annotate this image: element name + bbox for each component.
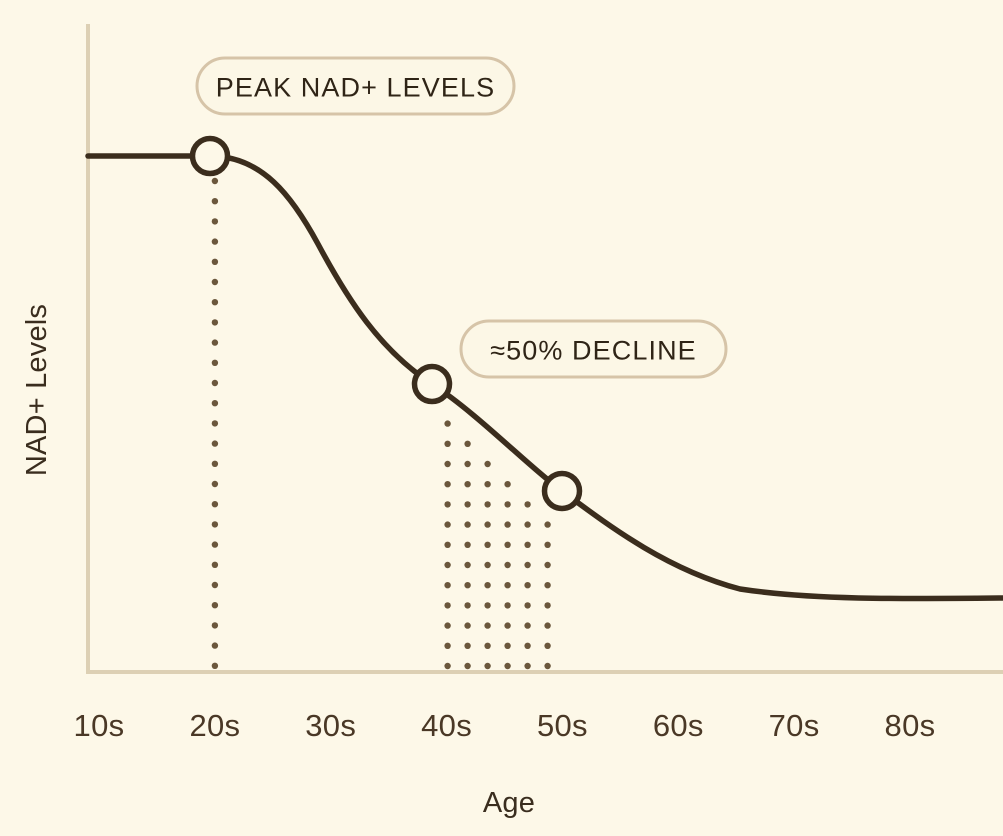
region-fill-dot xyxy=(464,622,470,628)
dropline-dot xyxy=(212,420,218,426)
region-fill-dot xyxy=(544,602,550,608)
region-fill-dot xyxy=(444,663,450,669)
region-fill-dot xyxy=(484,622,490,628)
region-fill-dot xyxy=(464,542,470,548)
region-fill-dot xyxy=(504,481,510,487)
region-fill-dot xyxy=(444,562,450,568)
annotation-peak-nad-levels[interactable]: PEAK NAD+ LEVELS xyxy=(197,58,514,114)
region-fill-dot xyxy=(524,521,530,527)
dropline-dot xyxy=(212,218,218,224)
region-fill-dot xyxy=(544,542,550,548)
region-fill-dot xyxy=(464,602,470,608)
annotation-peak-label: PEAK NAD+ LEVELS xyxy=(216,73,495,103)
data-point-marker-40s[interactable] xyxy=(415,367,450,402)
region-fill-dot xyxy=(544,562,550,568)
region-fill-dot xyxy=(484,562,490,568)
region-fill-dot xyxy=(464,521,470,527)
region-fill-dot xyxy=(444,501,450,507)
dropline-dot xyxy=(212,360,218,366)
dropline-dot xyxy=(212,521,218,527)
region-fill-dot xyxy=(484,663,490,669)
dropline-dot xyxy=(212,259,218,265)
dropline-dot xyxy=(212,380,218,386)
x-tick-label-40s: 40s xyxy=(421,708,472,743)
region-fill-dot xyxy=(464,663,470,669)
region-fill-dot xyxy=(524,501,530,507)
region-fill-dot xyxy=(504,602,510,608)
region-fill-dot xyxy=(504,521,510,527)
dropline-dot xyxy=(212,663,218,669)
region-fill-dot xyxy=(444,643,450,649)
region-fill-dot xyxy=(444,622,450,628)
region-fill-dot xyxy=(524,582,530,588)
region-fill-dot xyxy=(504,582,510,588)
chart-canvas: PEAK NAD+ LEVELS ≈50% DECLINE 10s20s30s4… xyxy=(0,0,1003,836)
dropline-dot xyxy=(212,642,218,648)
dropline-dot xyxy=(212,622,218,628)
x-axis-tick-labels: 10s20s30s40s50s60s70s80s xyxy=(74,708,936,743)
dropline-dot xyxy=(212,279,218,285)
region-fill-dot xyxy=(524,602,530,608)
region-fill-dot xyxy=(484,643,490,649)
data-point-marker-50s[interactable] xyxy=(545,474,580,509)
region-fill-dot xyxy=(444,602,450,608)
dropline-dot xyxy=(212,440,218,446)
region-fill-dot xyxy=(504,542,510,548)
annotation-fifty-percent-decline[interactable]: ≈50% DECLINE xyxy=(461,321,726,377)
dropline-dot xyxy=(212,602,218,608)
data-point-marker-20s[interactable] xyxy=(193,139,228,174)
region-fill-dot xyxy=(544,643,550,649)
region-fill-dot xyxy=(444,582,450,588)
x-tick-label-10s: 10s xyxy=(74,708,125,743)
region-fill-dot xyxy=(524,663,530,669)
dropline-dot xyxy=(212,481,218,487)
y-axis-title: NAD+ Levels xyxy=(21,304,53,476)
region-fill-dot xyxy=(504,663,510,669)
region-fill-dot xyxy=(484,602,490,608)
region-fill-dot xyxy=(484,542,490,548)
region-fill-dot xyxy=(504,562,510,568)
dropline-dot xyxy=(212,299,218,305)
region-fill-dot xyxy=(524,542,530,548)
region-fill-dot xyxy=(464,562,470,568)
region-fill-dot xyxy=(484,582,490,588)
dropline-dot xyxy=(212,178,218,184)
region-fill-dot xyxy=(464,582,470,588)
region-fill-dot xyxy=(544,582,550,588)
region-fill-dot xyxy=(544,663,550,669)
nad-decline-chart: PEAK NAD+ LEVELS ≈50% DECLINE 10s20s30s4… xyxy=(0,0,1003,836)
region-fill-dot xyxy=(544,521,550,527)
dropline-dot xyxy=(212,198,218,204)
x-tick-label-50s: 50s xyxy=(537,708,588,743)
region-fill-dot xyxy=(484,521,490,527)
region-fill-dot xyxy=(464,481,470,487)
region-fill-dot xyxy=(444,542,450,548)
dropline-dot xyxy=(212,501,218,507)
dropline-dot xyxy=(212,339,218,345)
region-fill-dot xyxy=(464,501,470,507)
region-fill-dot xyxy=(444,521,450,527)
x-axis-title: Age xyxy=(483,787,535,819)
region-fill-dot xyxy=(464,461,470,467)
region-fill-dot xyxy=(524,622,530,628)
dropline-dot xyxy=(212,541,218,547)
dropline-dot xyxy=(212,582,218,588)
dropline-dot xyxy=(212,319,218,325)
region-fill-dot xyxy=(544,622,550,628)
region-fill-dot xyxy=(504,643,510,649)
region-fill-dot xyxy=(444,461,450,467)
region-fill-dot xyxy=(444,481,450,487)
region-fill-dot xyxy=(484,501,490,507)
region-fill-dot xyxy=(444,420,450,426)
region-fill-dot xyxy=(504,501,510,507)
region-fill-dot xyxy=(484,461,490,467)
region-fill-dot xyxy=(484,481,490,487)
x-tick-label-60s: 60s xyxy=(653,708,704,743)
region-fill-dot xyxy=(524,562,530,568)
region-fill-dot xyxy=(504,622,510,628)
dropline-dot xyxy=(212,400,218,406)
dropline-dot xyxy=(212,562,218,568)
x-tick-label-70s: 70s xyxy=(769,708,820,743)
x-tick-label-30s: 30s xyxy=(305,708,356,743)
annotation-decline-label: ≈50% DECLINE xyxy=(490,336,697,366)
x-tick-label-80s: 80s xyxy=(885,708,936,743)
dropline-dot xyxy=(212,238,218,244)
region-fill-dot xyxy=(444,441,450,447)
reference-line-vertical-20s xyxy=(212,178,218,669)
dropline-dot xyxy=(212,461,218,467)
region-fill-dot xyxy=(464,643,470,649)
shaded-region-dot-grid xyxy=(444,420,550,669)
x-tick-label-20s: 20s xyxy=(189,708,240,743)
region-fill-dot xyxy=(464,441,470,447)
region-fill-dot xyxy=(524,643,530,649)
